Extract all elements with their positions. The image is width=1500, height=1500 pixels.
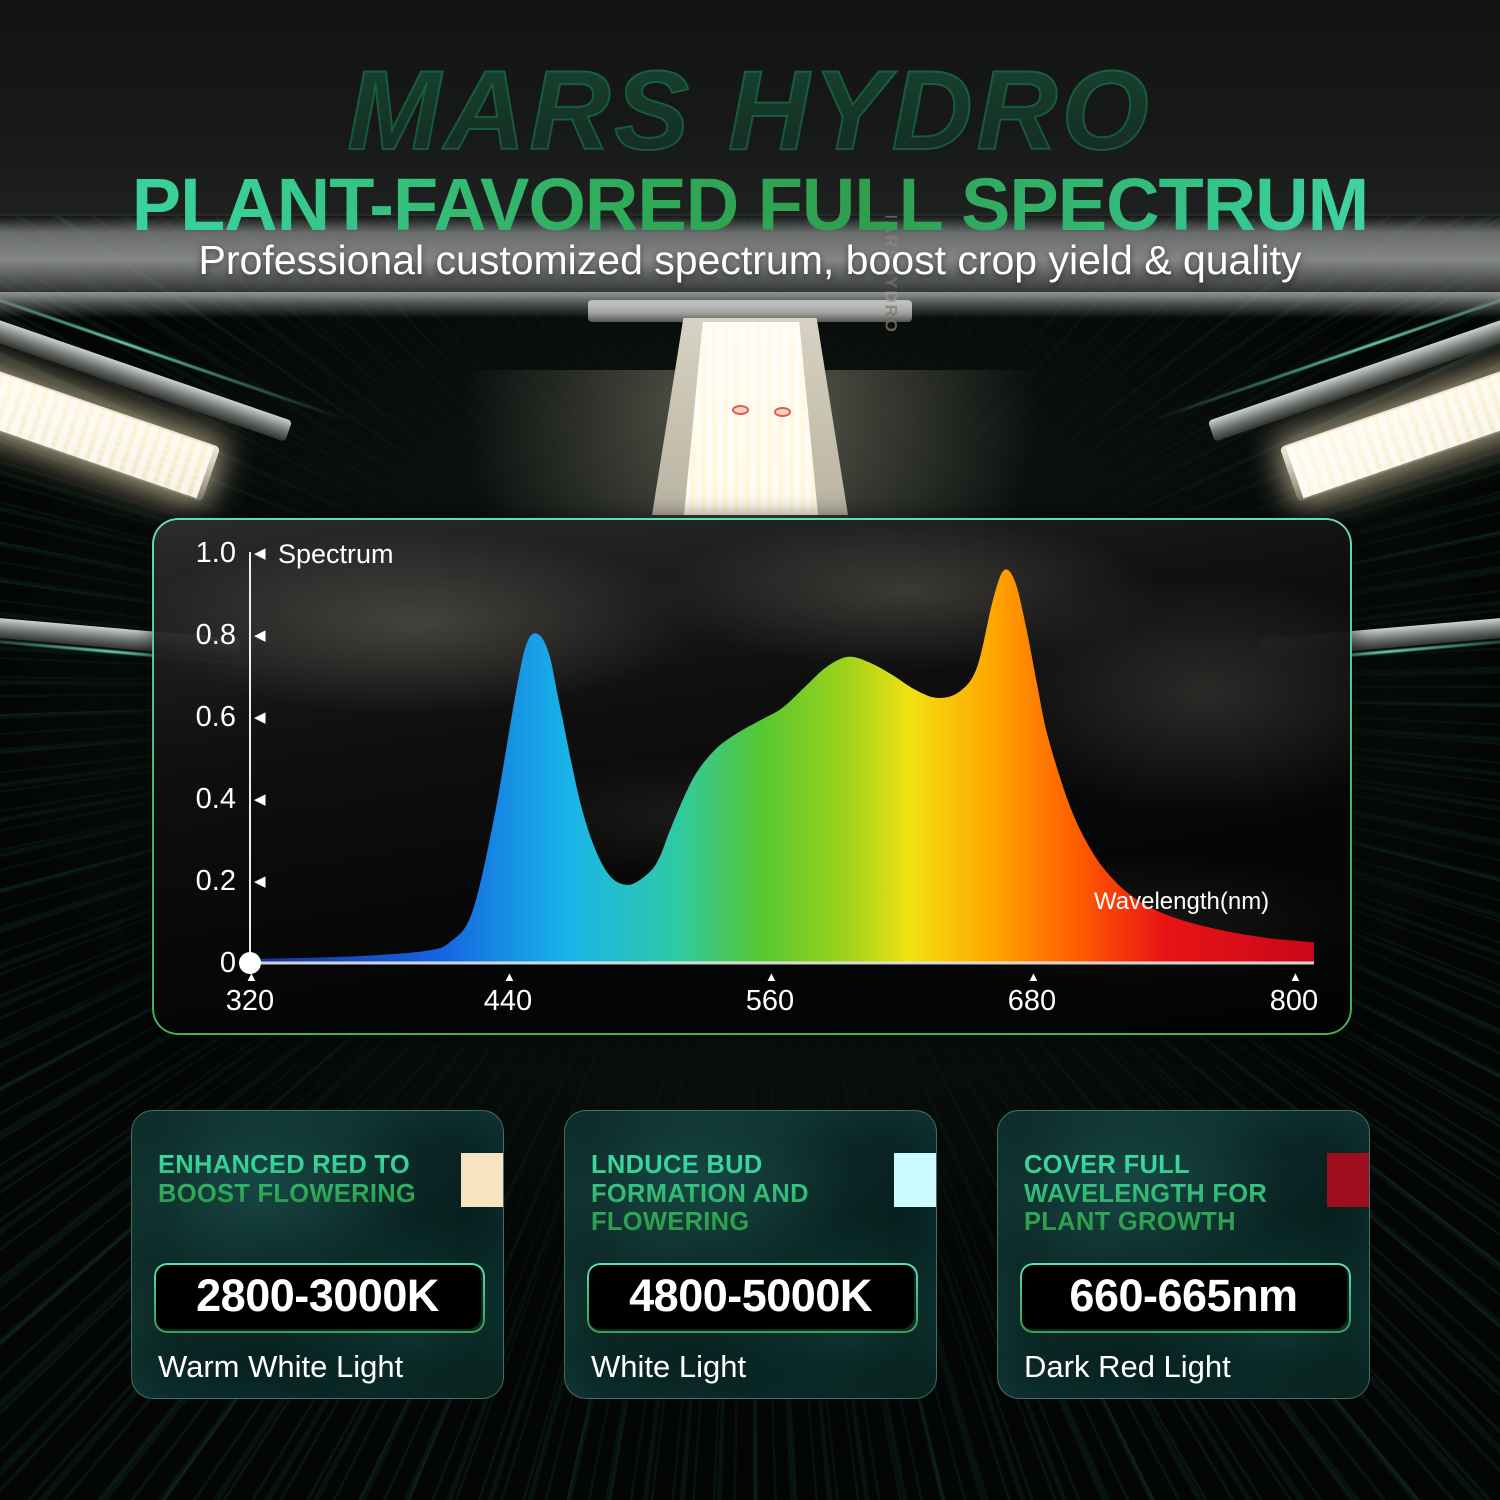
deep-red-swatch — [1327, 1153, 1370, 1207]
feature-value-box: 660-665nm — [1020, 1263, 1347, 1329]
warm-white-swatch — [461, 1153, 504, 1207]
y-tick-label-0: 0 — [166, 947, 236, 980]
wavelength-axis-label: Wavelength(nm) — [1094, 888, 1269, 916]
feature-card-heading: LNDUCE BUD FORMATION AND FLOWERING — [591, 1151, 882, 1237]
y-tick-label-0.2: 0.2 — [166, 865, 236, 898]
x-tick-label-680: 680 — [972, 985, 1092, 1018]
page-subtitle: Professional customized spectrum, boost … — [0, 237, 1500, 284]
spectrum-axis-label: Spectrum — [278, 539, 394, 570]
x-tick-arrow-560: ▲ — [765, 970, 778, 983]
feature-card-caption: Warm White Light — [158, 1349, 403, 1385]
x-tick-label-440: 440 — [448, 985, 568, 1018]
brand-watermark: MARS HYDRO — [0, 46, 1500, 175]
chart-inner: 1.0 ◀ 0.8 ◀ 0.6 ◀ 0.4 ◀ 0.2 ◀ 0 Spectrum… — [154, 520, 1350, 1033]
x-tick-arrow-680: ▲ — [1027, 970, 1040, 983]
y-tick-label-0.4: 0.4 — [166, 783, 236, 816]
fixture-led-panel — [684, 322, 818, 515]
feature-card-heading: ENHANCED RED TO BOOST FLOWERING — [158, 1151, 449, 1208]
y-tick-label-1.0: 1.0 — [166, 537, 236, 570]
x-tick-label-800: 800 — [1234, 985, 1352, 1018]
feature-card-caption: White Light — [591, 1349, 746, 1385]
x-tick-arrow-320: ▲ — [245, 970, 258, 983]
feature-value-text: 660-665nm — [1069, 1270, 1297, 1322]
feature-card-warm-white[interactable]: ENHANCED RED TO BOOST FLOWERING 2800-300… — [131, 1110, 504, 1399]
feature-value-text: 2800-3000K — [196, 1270, 439, 1322]
x-tick-label-320: 320 — [190, 985, 310, 1018]
feature-cards-row: ENHANCED RED TO BOOST FLOWERING 2800-300… — [0, 1110, 1500, 1400]
y-tick-arrow-1.0: ◀ — [254, 546, 266, 561]
cool-white-swatch — [894, 1153, 937, 1207]
y-tick-arrow-0.8: ◀ — [254, 628, 266, 643]
x-tick-arrow-800: ▲ — [1289, 970, 1302, 983]
feature-card-heading: COVER FULL WAVELENGTH FOR PLANT GROWTH — [1024, 1151, 1315, 1237]
spectrum-chart-panel: 1.0 ◀ 0.8 ◀ 0.6 ◀ 0.4 ◀ 0.2 ◀ 0 Spectrum… — [152, 518, 1352, 1035]
page-title: PLANT-FAVORED FULL SPECTRUM — [0, 162, 1500, 247]
y-tick-arrow-0.6: ◀ — [254, 710, 266, 725]
feature-card-caption: Dark Red Light — [1024, 1349, 1231, 1385]
y-tick-label-0.6: 0.6 — [166, 701, 236, 734]
y-tick-label-0.8: 0.8 — [166, 619, 236, 652]
red-led-indicator — [732, 405, 749, 415]
feature-value-box: 2800-3000K — [154, 1263, 481, 1329]
feature-card-white[interactable]: LNDUCE BUD FORMATION AND FLOWERING 4800-… — [564, 1110, 937, 1399]
feature-value-box: 4800-5000K — [587, 1263, 914, 1329]
feature-value-text: 4800-5000K — [629, 1270, 872, 1322]
y-tick-arrow-0.2: ◀ — [254, 874, 266, 889]
y-tick-arrow-0.4: ◀ — [254, 792, 266, 807]
x-tick-arrow-440: ▲ — [503, 970, 516, 983]
spectrum-plot — [154, 520, 1350, 1033]
subtitle-band-edge — [0, 292, 1500, 318]
x-tick-label-560: 560 — [710, 985, 830, 1018]
feature-card-dark-red[interactable]: COVER FULL WAVELENGTH FOR PLANT GROWTH 6… — [997, 1110, 1370, 1399]
center-grow-light-fixture: MARSHYDRO — [580, 300, 920, 515]
red-led-indicator — [774, 407, 791, 417]
